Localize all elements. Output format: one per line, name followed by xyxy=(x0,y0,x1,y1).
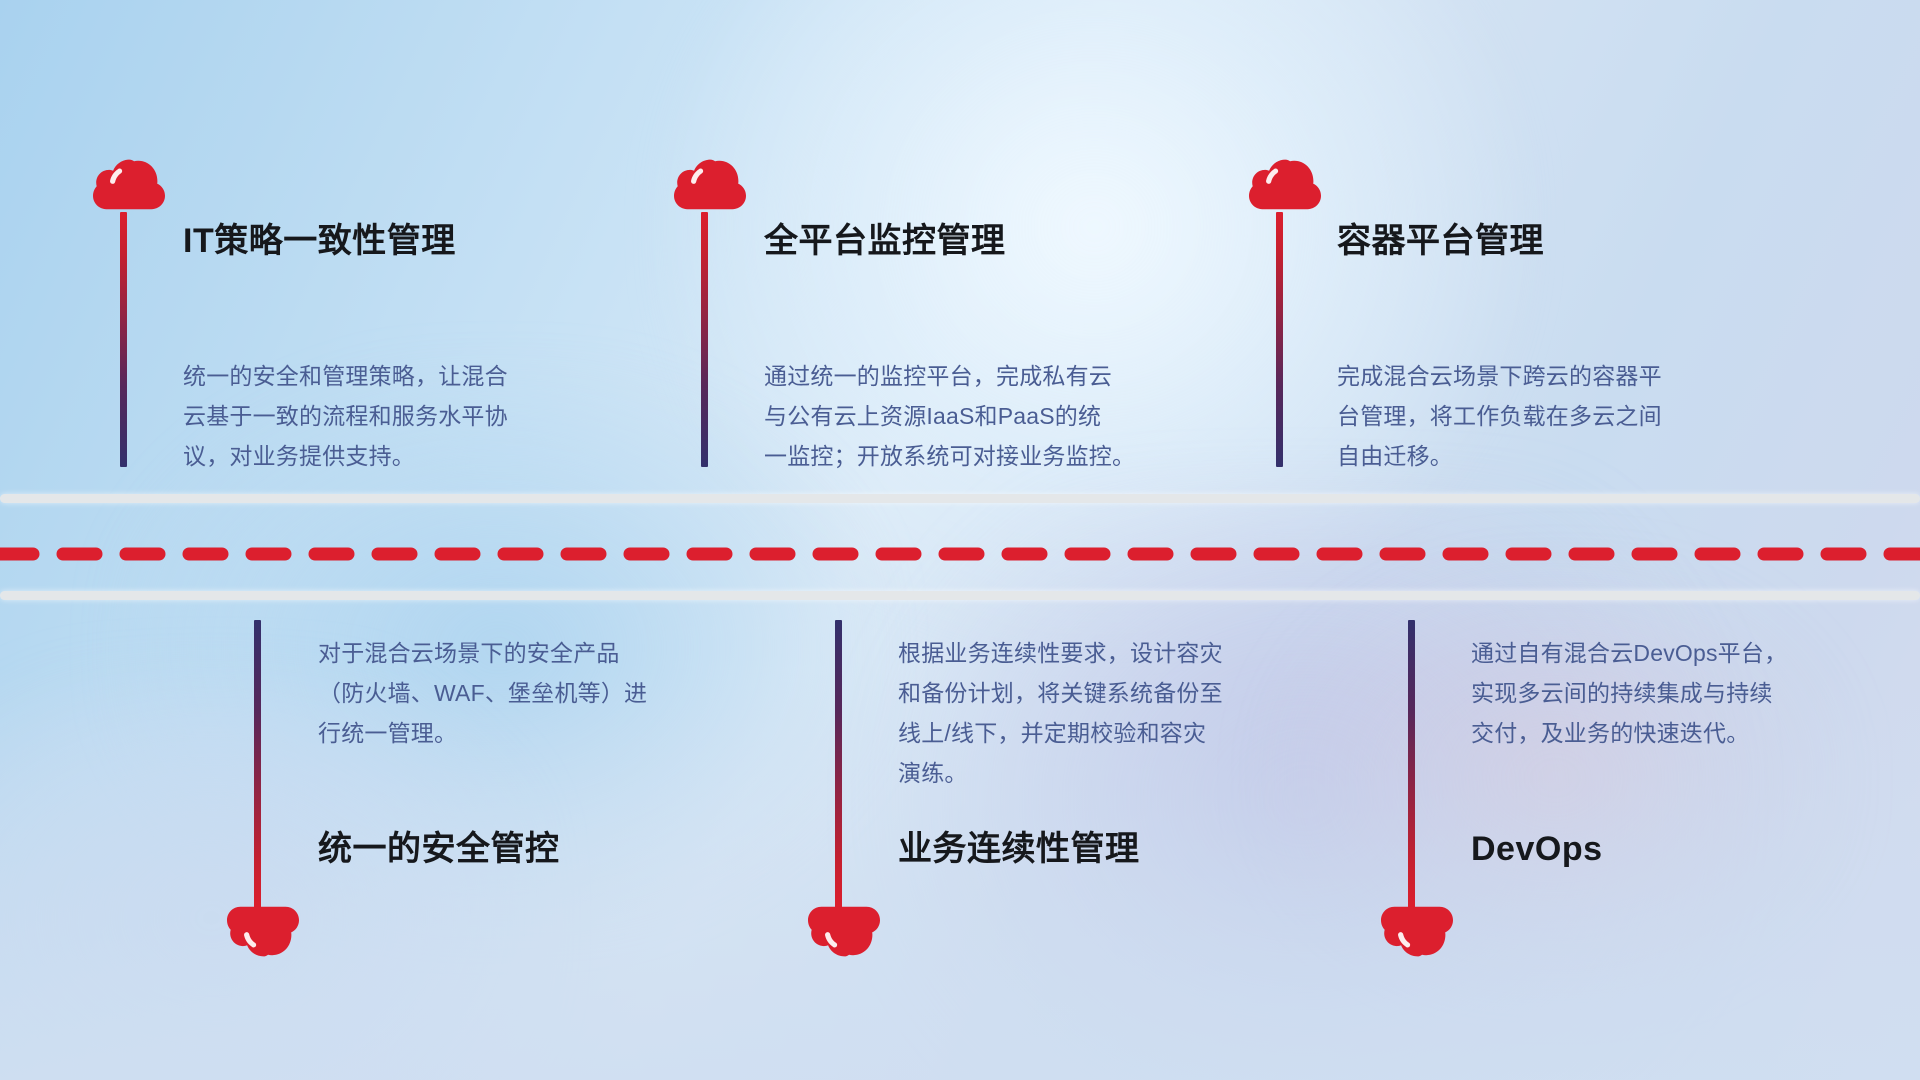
description-line: （防火墙、WAF、堡垒机等）进 xyxy=(318,673,647,713)
cloud-icon xyxy=(93,158,165,216)
cloud-icon xyxy=(1381,900,1453,958)
column-description: 完成混合云场景下跨云的容器平 台管理，将工作负载在多云之间 自由迁移。 xyxy=(1337,356,1662,476)
column-title: IT策略一致性管理 xyxy=(183,224,456,258)
description-line: 一监控；开放系统可对接业务监控。 xyxy=(764,436,1135,476)
cloud-icon xyxy=(674,158,746,216)
cloud-icon xyxy=(808,900,880,958)
description-line: 对于混合云场景下的安全产品 xyxy=(318,633,647,673)
description-line: 根据业务连续性要求，设计容灾 xyxy=(898,633,1223,673)
column-description: 通过自有混合云DevOps平台， 实现多云间的持续集成与持续 交付，及业务的快速… xyxy=(1471,633,1787,753)
column-title: 统一的安全管控 xyxy=(318,832,560,866)
description-line: 实现多云间的持续集成与持续 xyxy=(1471,673,1787,713)
infographic-canvas: IT策略一致性管理 统一的安全和管理策略，让混合 云基于一致的流程和服务水平协 … xyxy=(0,0,1920,1080)
description-line: 通过自有混合云DevOps平台， xyxy=(1471,633,1787,673)
description-line: 和备份计划，将关键系统备份至 xyxy=(898,673,1223,713)
description-line: 交付，及业务的快速迭代。 xyxy=(1471,713,1787,753)
column-description: 统一的安全和管理策略，让混合 云基于一致的流程和服务水平协 议，对业务提供支持。 xyxy=(183,356,508,476)
cloud-icon xyxy=(227,900,299,958)
connector-line xyxy=(1408,620,1415,908)
cloud-icon xyxy=(1249,158,1321,216)
divider-dashed-line xyxy=(0,545,1920,563)
description-line: 自由迁移。 xyxy=(1337,436,1662,476)
connector-line xyxy=(120,212,127,467)
divider-rule-upper xyxy=(0,494,1920,503)
description-line: 完成混合云场景下跨云的容器平 xyxy=(1337,356,1662,396)
description-line: 演练。 xyxy=(898,753,1223,793)
connector-line xyxy=(835,620,842,908)
column-description: 通过统一的监控平台，完成私有云 与公有云上资源IaaS和PaaS的统 一监控；开… xyxy=(764,356,1135,476)
description-line: 云基于一致的流程和服务水平协 xyxy=(183,396,508,436)
column-title: DevOps xyxy=(1471,832,1603,866)
column-title: 全平台监控管理 xyxy=(764,224,1006,258)
connector-line xyxy=(254,620,261,908)
connector-line xyxy=(1276,212,1283,467)
column-title: 业务连续性管理 xyxy=(898,832,1140,866)
column-description: 对于混合云场景下的安全产品 （防火墙、WAF、堡垒机等）进 行统一管理。 xyxy=(318,633,647,753)
column-description: 根据业务连续性要求，设计容灾 和备份计划，将关键系统备份至 线上/线下，并定期校… xyxy=(898,633,1223,793)
description-line: 线上/线下，并定期校验和容灾 xyxy=(898,713,1223,753)
divider-rule-lower xyxy=(0,591,1920,600)
description-line: 行统一管理。 xyxy=(318,713,647,753)
description-line: 议，对业务提供支持。 xyxy=(183,436,508,476)
column-title: 容器平台管理 xyxy=(1337,224,1544,258)
description-line: 统一的安全和管理策略，让混合 xyxy=(183,356,508,396)
description-line: 通过统一的监控平台，完成私有云 xyxy=(764,356,1135,396)
description-line: 台管理，将工作负载在多云之间 xyxy=(1337,396,1662,436)
connector-line xyxy=(701,212,708,467)
description-line: 与公有云上资源IaaS和PaaS的统 xyxy=(764,396,1135,436)
